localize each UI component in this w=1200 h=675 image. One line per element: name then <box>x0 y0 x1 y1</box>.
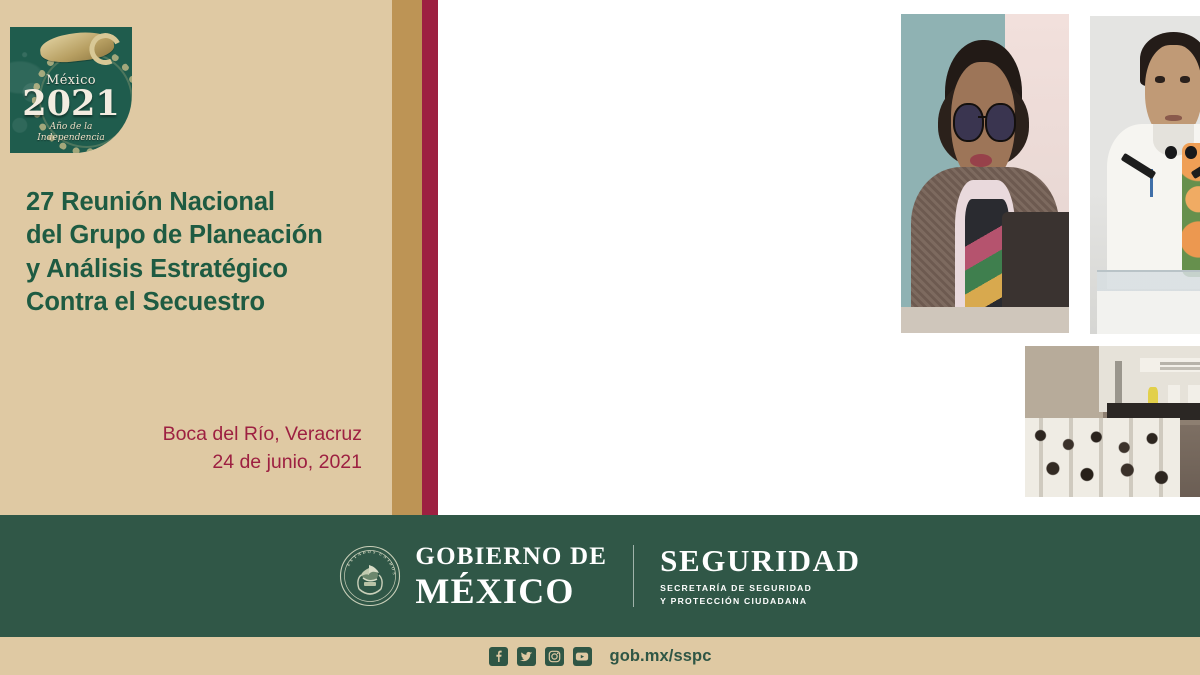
photo-microphone-head-right <box>1185 146 1197 159</box>
photo-desk <box>901 307 1069 333</box>
photo-governor <box>1090 16 1200 334</box>
dependency-subtitle-line2: Y PROTECCIÓN CIUDADANA <box>660 596 807 606</box>
page-title: 27 Reunión Nacional del Grupo de Planeac… <box>26 186 378 320</box>
national-seal-icon: E S T A D O S U N I D O S <box>339 545 401 607</box>
twitter-icon[interactable] <box>517 647 536 666</box>
youtube-icon[interactable] <box>573 647 592 666</box>
title-line-2: del Grupo de Planeación <box>26 219 378 252</box>
social-bar: gob.mx/sspc <box>0 637 1200 675</box>
event-place-date: Boca del Río, Veracruz 24 de junio, 2021 <box>0 421 362 476</box>
photo-truss-left <box>1115 361 1122 406</box>
photo-microphone-head-left <box>1165 146 1177 159</box>
photo-podium <box>1097 270 1200 334</box>
badge-subtitle-line2: Independencia <box>37 133 105 143</box>
seguridad-wordmark: SEGURIDAD SECRETARÍA DE SEGURIDAD Y PROT… <box>660 545 860 607</box>
photo-collage-panel <box>438 0 1200 515</box>
photo-banner-text-line1 <box>1160 362 1200 365</box>
dependency-subtitle-line1: SECRETARÍA DE SEGURIDAD <box>660 583 812 593</box>
title-line-1: 27 Reunión Nacional <box>26 186 378 219</box>
gold-stripe <box>392 0 422 515</box>
badge-text-block: México 2021 Año de la Independencia <box>10 73 132 143</box>
photo-floral-embroidery <box>1182 143 1200 277</box>
photo-glasses-bridge <box>978 116 986 118</box>
gobierno-de-mexico-wordmark: GOBIERNO DE MÉXICO <box>415 544 607 609</box>
dependency-subtitle: SECRETARÍA DE SEGURIDAD Y PROTECCIÓN CIU… <box>660 582 860 607</box>
crimson-stripe <box>422 0 438 515</box>
photo-mouth <box>970 154 992 167</box>
svg-text:S: S <box>373 549 377 554</box>
photo-side-wall-left <box>1025 346 1103 418</box>
facebook-icon[interactable] <box>489 647 508 666</box>
photo-banner-text-line2 <box>1160 367 1200 370</box>
badge-year: 2021 <box>10 87 132 120</box>
photo-audience-heads-left <box>1025 422 1180 498</box>
photo-auditorium <box>1025 346 1200 497</box>
footer-logo-group: E S T A D O S U N I D O S <box>0 515 1200 637</box>
photo-mouth <box>1165 115 1182 121</box>
svg-text:D: D <box>362 549 366 555</box>
poster-canvas: México 2021 Año de la Independencia 27 R… <box>0 0 1200 675</box>
social-handle[interactable]: gob.mx/sspc <box>610 647 712 666</box>
title-line-3: y Análisis Estratégico <box>26 253 378 286</box>
title-line-4: Contra el Secuestro <box>26 286 378 319</box>
footer-bar: E S T A D O S U N I D O S <box>0 515 1200 637</box>
mexico-2021-badge: México 2021 Año de la Independencia <box>10 27 132 153</box>
instagram-icon[interactable] <box>545 647 564 666</box>
photo-glasses-right <box>985 103 1016 142</box>
dependency-title: SEGURIDAD <box>660 545 860 576</box>
svg-text:O: O <box>368 549 371 554</box>
svg-text:O: O <box>391 566 397 571</box>
event-date: 24 de junio, 2021 <box>0 449 362 477</box>
svg-text:S: S <box>392 572 397 576</box>
gobierno-line-2: MÉXICO <box>415 573 607 609</box>
event-location: Boca del Río, Veracruz <box>0 421 362 449</box>
logo-divider <box>633 545 634 607</box>
gobierno-line-1: GOBIERNO DE <box>415 544 607 569</box>
photo-glasses-left <box>953 103 984 142</box>
photo-minister <box>901 14 1069 333</box>
badge-subtitle: Año de la Independencia <box>10 122 132 143</box>
badge-subtitle-line1: Año de la <box>50 122 93 132</box>
